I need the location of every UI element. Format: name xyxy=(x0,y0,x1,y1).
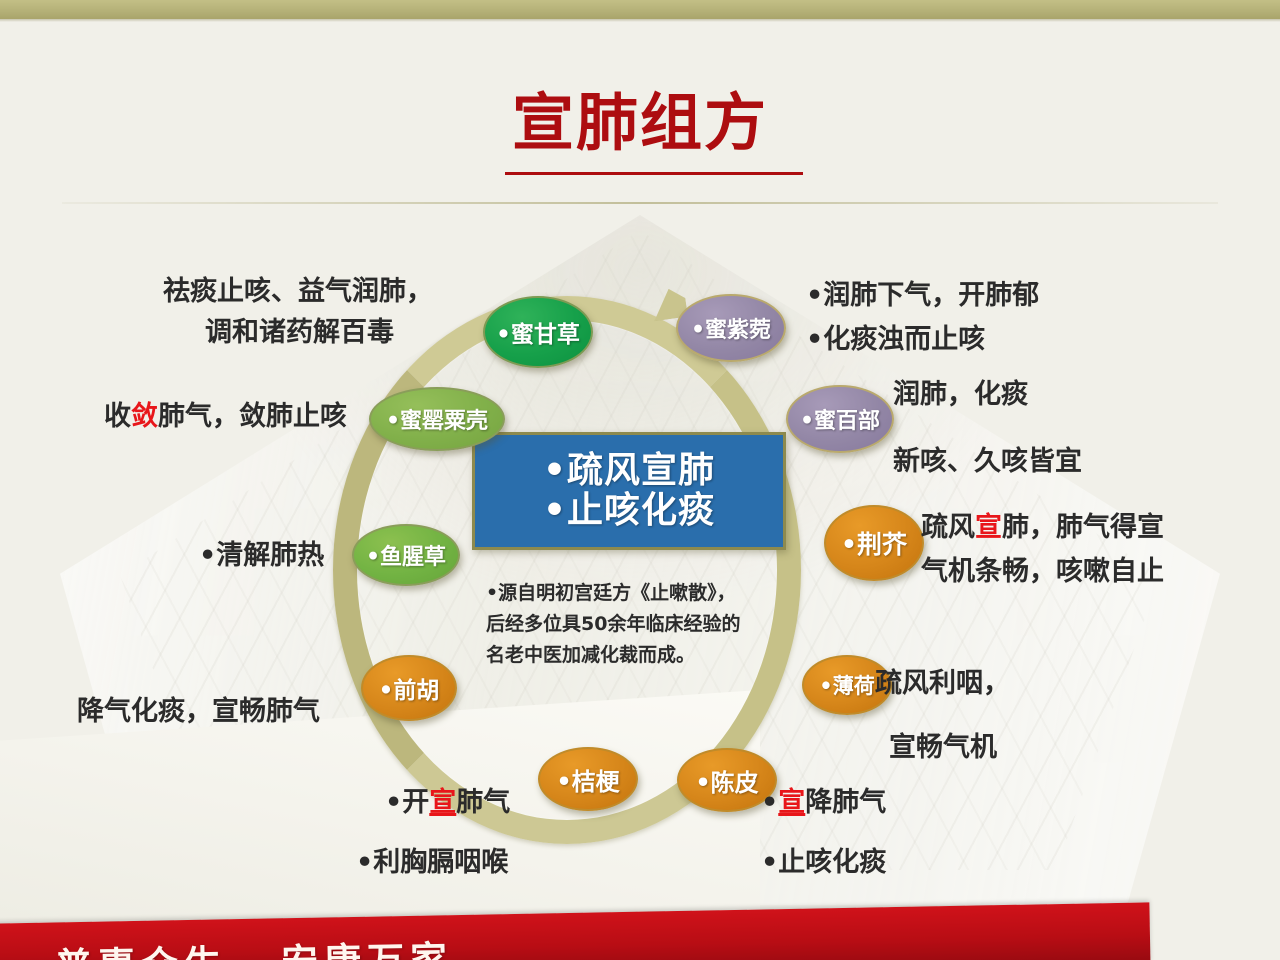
annotation-text: 疏风 xyxy=(921,512,975,543)
top-bar-shadow xyxy=(0,19,1280,22)
formula-origin-text: •源自明初宫廷方《止嗽散》，后经多位具50余年临床经验的名老中医加减化裁而成。 xyxy=(486,578,748,670)
annotation-gan-cao-line-2: 调和诸药解百毒 xyxy=(205,313,394,354)
herb-bubble-mi-bai-bu[interactable]: •蜜百部 xyxy=(786,385,894,453)
annotation-text: 降肺气 xyxy=(805,787,886,818)
annotation-text: 肺，肺气得宣 xyxy=(1002,512,1164,543)
annotation-bo-he-line-1: 疏风利咽， xyxy=(875,664,1010,705)
annotation-bo-he-line-2: 宣畅气机 xyxy=(889,728,997,769)
annotation-jie-geng-line-1: •开宣肺气 xyxy=(385,783,510,824)
annotation-ying-su-ke: 收敛肺气，敛肺止咳 xyxy=(104,397,347,438)
herb-label: •鱼腥草 xyxy=(366,539,446,571)
slide-canvas: 宣肺组方 •疏风宣肺 •止咳化痰 •源自明初宫廷方《止嗽散》，后经多位具50余年… xyxy=(0,0,1280,960)
footer-slogan-left: 普惠众生 xyxy=(55,941,228,960)
annotation-text: •开 xyxy=(385,787,429,818)
herb-label: •蜜百部 xyxy=(800,403,880,435)
highlight-char: 宣 xyxy=(778,787,805,818)
annotation-chen-pi-line-2: •止咳化痰 xyxy=(761,843,886,884)
annotation-jing-jie-line-2: 气机条畅，咳嗽自止 xyxy=(921,552,1164,593)
annotation-text: 收 xyxy=(104,401,131,432)
highlight-char: 敛 xyxy=(131,401,158,432)
herb-bubble-yu-xing-cao[interactable]: •鱼腥草 xyxy=(352,524,460,586)
core-function-line-1: •疏风宣肺 xyxy=(543,451,715,491)
highlight-char: 宣 xyxy=(975,512,1002,543)
herb-label: •蜜紫菀 xyxy=(691,312,771,344)
herb-label: •薄荷 xyxy=(819,670,874,700)
title-underline xyxy=(505,172,803,175)
herb-bubble-mi-ying-su-ke[interactable]: •蜜罂粟壳 xyxy=(369,387,505,451)
annotation-jie-geng-line-2: •利胸膈咽喉 xyxy=(356,843,508,884)
annotation-qian-hu: 降气化痰，宣畅肺气 xyxy=(77,692,320,733)
core-function-line-2: •止咳化痰 xyxy=(543,491,715,531)
herb-label: •蜜甘草 xyxy=(496,315,580,349)
annotation-bai-bu-line-1: 润肺，化痰 xyxy=(893,375,1028,416)
annotation-bai-bu-line-2: 新咳、久咳皆宜 xyxy=(893,442,1082,483)
herb-bubble-jing-jie[interactable]: •荆芥 xyxy=(824,505,924,581)
annotation-yu-xing-cao: •清解肺热 xyxy=(199,536,324,577)
highlight-char: 宣 xyxy=(429,787,456,818)
title-divider xyxy=(62,202,1218,204)
annotation-text: 肺气 xyxy=(456,787,510,818)
annotation-zi-wan-line-2: •化痰浊而止咳 xyxy=(806,320,985,361)
herb-label: •蜜罂粟壳 xyxy=(386,403,488,435)
herb-label: •桔梗 xyxy=(556,762,619,797)
herb-bubble-jie-geng[interactable]: •桔梗 xyxy=(538,747,638,811)
herb-label: •前胡 xyxy=(379,671,440,705)
annotation-text: 肺气，敛肺止咳 xyxy=(158,401,347,432)
page-title: 宣肺组方 xyxy=(0,92,1280,154)
herb-bubble-mi-gan-cao[interactable]: •蜜甘草 xyxy=(483,296,593,368)
annotation-text: • xyxy=(761,787,778,818)
top-gold-bar xyxy=(0,0,1280,19)
annotation-zi-wan-line-1: •润肺下气，开肺郁 xyxy=(806,276,1039,317)
annotation-gan-cao-line-1: 祛痰止咳、益气润肺， xyxy=(163,272,433,313)
annotation-chen-pi-line-1: •宣降肺气 xyxy=(761,783,886,824)
herb-label: •荆芥 xyxy=(841,525,907,561)
footer-slogan-right: 安康万家 xyxy=(281,937,454,960)
herb-label: •陈皮 xyxy=(695,763,758,798)
herb-bubble-qian-hu[interactable]: •前胡 xyxy=(361,655,457,721)
core-function-box: •疏风宣肺 •止咳化痰 xyxy=(472,432,786,550)
annotation-jing-jie-line-1: 疏风宣肺，肺气得宣 xyxy=(921,508,1164,549)
herb-bubble-mi-zi-wan[interactable]: •蜜紫菀 xyxy=(676,294,786,362)
